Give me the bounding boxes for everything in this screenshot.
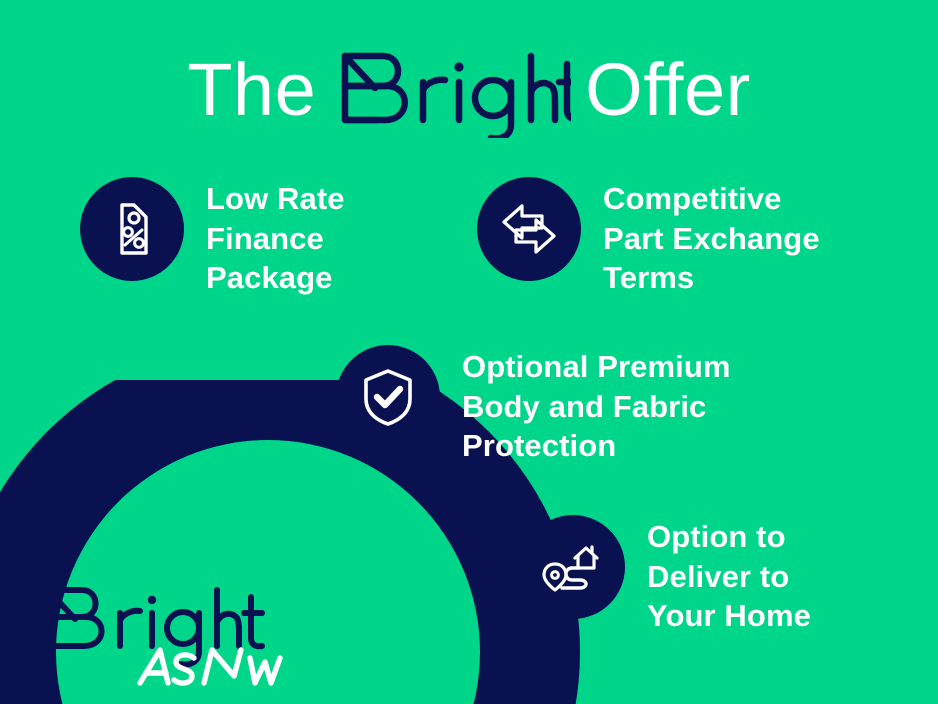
delivery-route-home-icon	[521, 515, 625, 619]
feature-label: Competitive Part Exchange Terms	[603, 177, 820, 298]
headline-prefix: The	[187, 48, 316, 131]
brand-logo-bright-as-new	[38, 580, 298, 695]
feature-home-delivery: Option to Deliver to Your Home	[521, 515, 811, 636]
feature-label: Low Rate Finance Package	[206, 177, 345, 298]
feature-low-rate-finance: Low Rate Finance Package	[80, 177, 345, 298]
feature-part-exchange: Competitive Part Exchange Terms	[477, 177, 820, 298]
feature-label: Option to Deliver to Your Home	[647, 515, 811, 636]
feature-body-fabric-protection: Optional Premium Body and Fabric Protect…	[336, 345, 731, 466]
headline-suffix: Offer	[585, 48, 751, 131]
feature-label: Optional Premium Body and Fabric Protect…	[462, 345, 731, 466]
bright-offer-promo-graphic: The	[0, 0, 938, 704]
bright-wordmark-icon	[331, 42, 571, 142]
exchange-arrows-icon	[477, 177, 581, 281]
price-tag-percent-icon	[80, 177, 184, 281]
shield-check-icon	[336, 345, 440, 449]
page-title: The	[0, 40, 938, 140]
